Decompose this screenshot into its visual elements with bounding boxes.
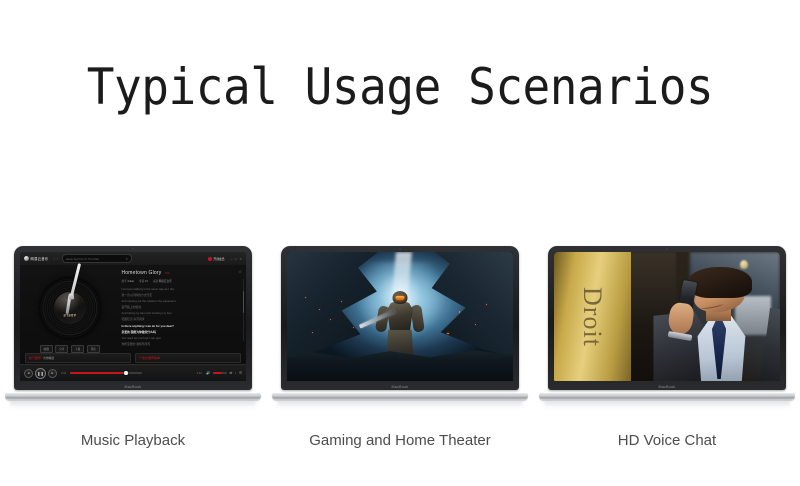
- minimize-icon[interactable]: –: [231, 257, 233, 261]
- laptop-shadow: [10, 400, 256, 408]
- mv-badge[interactable]: MV: [165, 271, 170, 275]
- banner-personalized[interactable]: 个性化推荐歌单: [135, 353, 241, 363]
- wall-sign-text: Droit: [577, 287, 607, 347]
- lyric-line: 你所需要的 我倾尽所有: [121, 342, 240, 346]
- hair: [688, 267, 751, 298]
- meta-source-value: 网易云音乐: [159, 280, 172, 283]
- laptop-lid: Droit: [548, 246, 786, 390]
- yellow-wall-panel: Droit: [554, 252, 631, 381]
- scenario-voice-chat: Droit: [534, 246, 800, 449]
- elapsed-time: 2:36: [61, 372, 66, 375]
- lyric-line: 避开路上的裂缝: [121, 305, 240, 309]
- song-title-text: Hometown Glory: [121, 270, 161, 276]
- nav-forward-button[interactable]: ›: [57, 257, 58, 261]
- titlebar-right: 开通会员 – □ ✕: [208, 257, 242, 261]
- volume-icon[interactable]: 🔊: [206, 371, 210, 375]
- song-info-panel: ☆ Hometown Glory MV 歌手 Adele: [119, 265, 246, 365]
- download-button[interactable]: 下载: [71, 345, 84, 353]
- song-title: Hometown Glory MV: [121, 270, 240, 276]
- scenario-caption-gaming: Gaming and Home Theater: [309, 432, 491, 449]
- playlist-icon[interactable]: ☰: [239, 371, 242, 375]
- comment-button[interactable]: 评论: [87, 345, 100, 353]
- suit-jacket-right: [752, 308, 781, 381]
- song-metadata: 歌手 Adele 专辑 19 来源 网易云音乐: [121, 279, 240, 283]
- device-wordmark: MacBook: [281, 385, 519, 389]
- track-action-buttons: 收藏 分享 下载 评论: [40, 345, 100, 353]
- vip-icon: [208, 257, 212, 261]
- album-cover-label: ADELE: [63, 313, 76, 317]
- playback-controls-bar: ◄ ❚❚ ► 2:36 3:43 🔊 ⇄ ♪ ☰: [20, 364, 246, 381]
- video-call-scene: Droit: [554, 252, 780, 381]
- lyric-line: 我一直以同样的方式行走: [121, 293, 240, 297]
- soldier-visor-glow: [396, 296, 405, 300]
- total-time: 3:43: [197, 372, 202, 375]
- lyric-line-current: 亲爱的 我能为你做些什么吗: [121, 330, 240, 334]
- lyrics-panel: I've been walking in the same way as I d…: [121, 287, 240, 349]
- banner-right-title: 个性化推荐歌单: [139, 356, 160, 360]
- lyrics-icon[interactable]: ♪: [235, 371, 237, 375]
- music-player-titlebar: 网易云音乐 ‹ › Adele Set Fire To The Rain ⚲: [20, 252, 246, 266]
- app-logo: 网易云音乐: [24, 256, 48, 261]
- scenario-caption-voice-chat: HD Voice Chat: [618, 432, 716, 449]
- maximize-icon[interactable]: □: [235, 257, 237, 261]
- device-wordmark: MacBook: [548, 385, 786, 389]
- nav-back-button[interactable]: ‹: [53, 257, 54, 261]
- search-placeholder: Adele Set Fire To The Rain: [66, 257, 99, 261]
- banner-left-subtitle: 为你精选: [43, 356, 54, 360]
- laptop-base: [539, 393, 795, 400]
- lyric-line: I've been walking in the same way as I d…: [121, 287, 240, 291]
- page-title: Typical Usage Scenarios: [32, 58, 768, 116]
- laptop-screen-music: 网易云音乐 ‹ › Adele Set Fire To The Rain ⚲: [20, 252, 246, 381]
- meta-source: 来源 网易云音乐: [153, 279, 172, 283]
- businessman: [653, 267, 780, 381]
- favorite-button[interactable]: 收藏: [40, 345, 53, 353]
- meta-album-value[interactable]: 19: [145, 280, 148, 283]
- laptop-voice-chat: Droit: [539, 246, 795, 408]
- shuffle-icon[interactable]: ⇄: [229, 371, 232, 375]
- scenario-music-playback: 网易云音乐 ‹ › Adele Set Fire To The Rain ⚲: [0, 246, 266, 449]
- laptop-music-playback: 网易云音乐 ‹ › Adele Set Fire To The Rain ⚲: [5, 246, 261, 408]
- search-icon[interactable]: ⚲: [126, 257, 128, 261]
- progress-slider[interactable]: [70, 372, 142, 374]
- lyric-line-current: Is there anything I can do for you dear?: [121, 324, 240, 328]
- laptop-shadow: [544, 400, 790, 408]
- webcam-icon: [399, 248, 401, 250]
- lyric-line: 鞋跟轻点 昂首阔步: [121, 317, 240, 321]
- app-logo-icon: [24, 256, 29, 261]
- lyric-line: And tutting my heel and strutting my fee…: [121, 311, 240, 315]
- meta-artist: 歌手 Adele: [121, 279, 134, 283]
- laptop-screen-voice-chat: Droit: [554, 252, 780, 381]
- lyric-line: You need as much as I can give: [121, 336, 240, 340]
- scenario-row: 网易云音乐 ‹ › Adele Set Fire To The Rain ⚲: [0, 246, 800, 466]
- laptop-base: [272, 393, 528, 400]
- meta-source-key: 来源: [153, 280, 158, 283]
- window-controls: – □ ✕: [231, 257, 242, 261]
- music-player-body: ADELE 收藏 分享 下载 评论: [20, 265, 246, 365]
- star-icon[interactable]: ☆: [238, 269, 242, 274]
- meta-album-key: 专辑: [139, 280, 144, 283]
- banner-left-title: 热门推荐: [29, 356, 41, 360]
- meta-album: 专辑 19: [139, 279, 148, 283]
- laptop-screen-gaming: [287, 252, 513, 381]
- album-art-panel: ADELE 收藏 分享 下载 评论: [20, 265, 119, 365]
- webcam-icon: [666, 248, 668, 250]
- scenario-caption-music: Music Playback: [81, 432, 185, 449]
- music-player-app: 网易云音乐 ‹ › Adele Set Fire To The Rain ⚲: [20, 252, 246, 381]
- lyric-line: And missing out the cracks in the paveme…: [121, 299, 240, 303]
- vip-button[interactable]: 开通会员: [208, 257, 224, 261]
- search-input[interactable]: Adele Set Fire To The Rain ⚲: [62, 254, 132, 263]
- scenario-gaming: MacBook Gaming and Home Theater: [267, 246, 533, 449]
- webcam-icon: [132, 248, 134, 250]
- nav-arrows: ‹ ›: [53, 257, 57, 261]
- soldier-torso: [387, 302, 413, 332]
- share-button[interactable]: 分享: [55, 345, 68, 353]
- device-wordmark: MacBook: [14, 385, 252, 389]
- game-scene: [287, 252, 513, 381]
- laptop-lid: 网易云音乐 ‹ › Adele Set Fire To The Rain ⚲: [14, 246, 252, 390]
- next-track-icon[interactable]: ►: [48, 369, 57, 378]
- previous-track-icon[interactable]: ◄: [24, 369, 33, 378]
- meta-artist-key: 歌手: [121, 280, 126, 283]
- app-logo-label: 网易云音乐: [31, 256, 49, 261]
- vinyl-record: ADELE: [39, 277, 101, 339]
- playback-right-controls: 3:43 🔊 ⇄ ♪ ☰: [195, 371, 242, 375]
- vip-label: 开通会员: [213, 257, 224, 261]
- laptop-lid: MacBook: [281, 246, 519, 390]
- volume-slider[interactable]: [213, 372, 227, 374]
- laptop-gaming: MacBook: [272, 246, 528, 408]
- meta-artist-value[interactable]: Adele: [127, 280, 134, 283]
- close-icon[interactable]: ✕: [239, 257, 242, 261]
- banner-hot-recommend[interactable]: 热门推荐 为你精选: [25, 353, 131, 363]
- laptop-base: [5, 393, 261, 400]
- lyrics-scrollbar[interactable]: [243, 279, 245, 341]
- laptop-shadow: [277, 400, 523, 408]
- play-pause-icon[interactable]: ❚❚: [35, 368, 46, 379]
